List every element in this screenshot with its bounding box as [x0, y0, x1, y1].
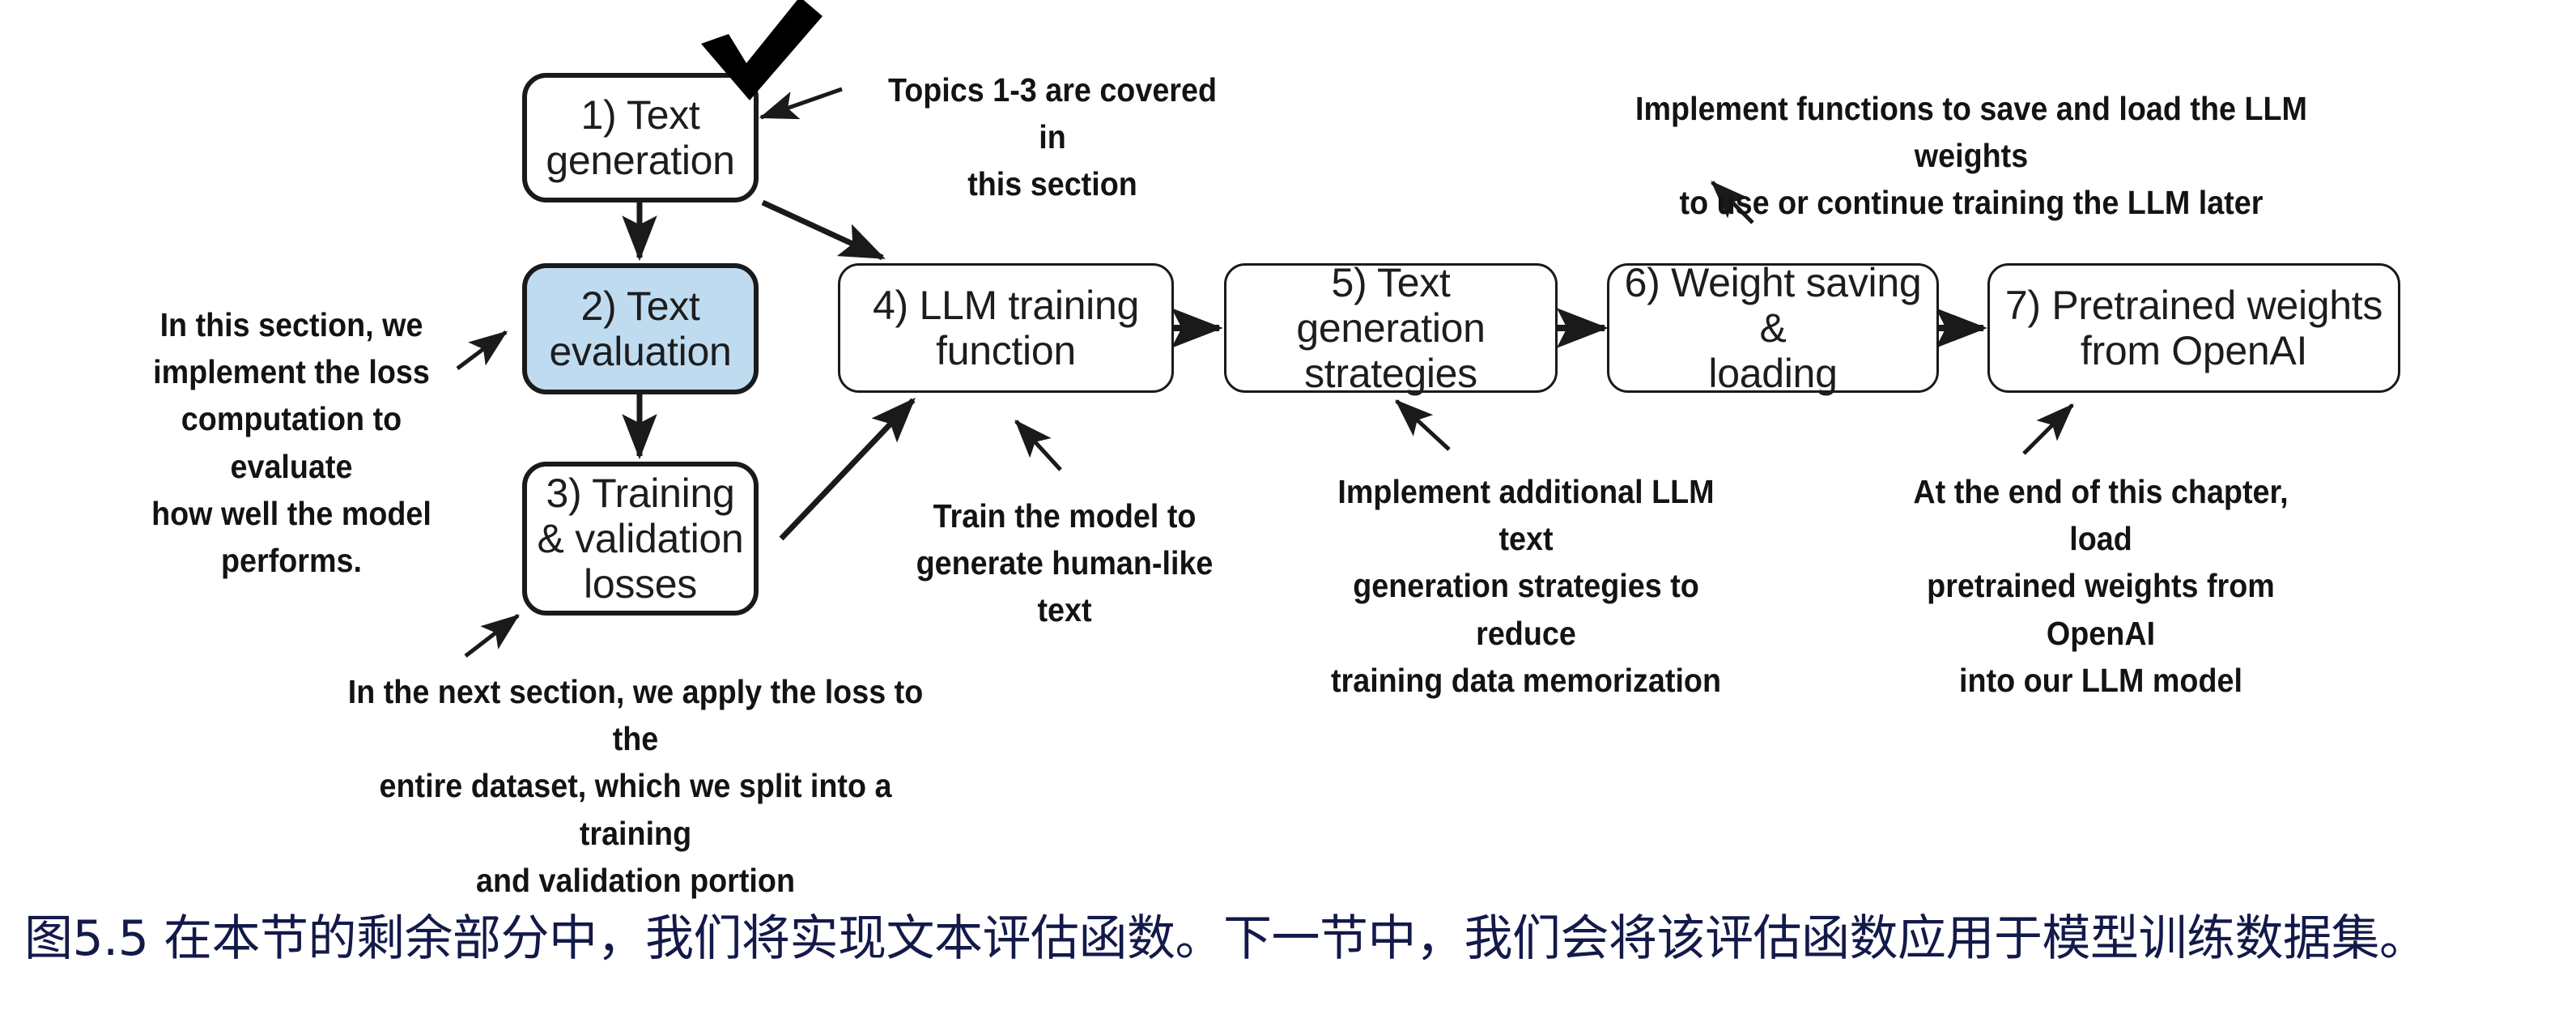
note-openai-weights: At the end of this chapter, load pretrai…: [1881, 468, 2321, 704]
flow-node-2-label: 2) Textevaluation: [542, 283, 740, 374]
edge-1-to-4: [763, 202, 882, 258]
flow-node-4-label: 4) LLM trainingfunction: [865, 283, 1147, 373]
checkmark-icon: [696, 0, 826, 107]
flow-node-6-label: 6) Weight saving &loading: [1609, 260, 1936, 396]
figure-caption: 图5.5 在本节的剩余部分中，我们将实现文本评估函数。下一节中，我们会将该评估函…: [24, 909, 2566, 969]
note-weights-save: Implement functions to save and load the…: [1592, 85, 2351, 227]
note-strategies: Implement additional LLM text generation…: [1314, 468, 1738, 704]
flow-node-5-label: 5) Text generationstrategies: [1226, 260, 1555, 396]
flow-node-7-label: 7) Pretrained weightsfrom OpenAI: [1997, 283, 2391, 373]
flow-node-6[interactable]: 6) Weight saving &loading: [1607, 263, 1939, 393]
flow-node-3[interactable]: 3) Training& validationlosses: [522, 462, 759, 616]
flow-diagram: 1) Textgeneration 2) Textevaluation 3) T…: [0, 0, 2576, 883]
flow-node-3-label: 3) Training& validationlosses: [529, 471, 752, 607]
leader-openai-weights: [2024, 405, 2072, 454]
note-next-section: In the next section, we apply the loss t…: [342, 668, 930, 904]
note-topics: Topics 1-3 are covered in this section: [881, 66, 1223, 208]
leader-next-section: [465, 616, 518, 656]
note-train-model: Train the model to generate human-like t…: [893, 492, 1235, 634]
leader-loss-section: [457, 332, 506, 369]
note-loss-section: In this section, we implement the loss c…: [135, 301, 448, 584]
flow-node-2[interactable]: 2) Textevaluation: [522, 263, 759, 394]
flow-node-4[interactable]: 4) LLM trainingfunction: [838, 263, 1174, 393]
figure-page: 1) Textgeneration 2) Textevaluation 3) T…: [0, 0, 2576, 1014]
leader-train-model: [1016, 421, 1061, 470]
flow-node-5[interactable]: 5) Text generationstrategies: [1224, 263, 1558, 393]
flow-node-7[interactable]: 7) Pretrained weightsfrom OpenAI: [1987, 263, 2400, 393]
leader-strategies: [1396, 401, 1449, 449]
